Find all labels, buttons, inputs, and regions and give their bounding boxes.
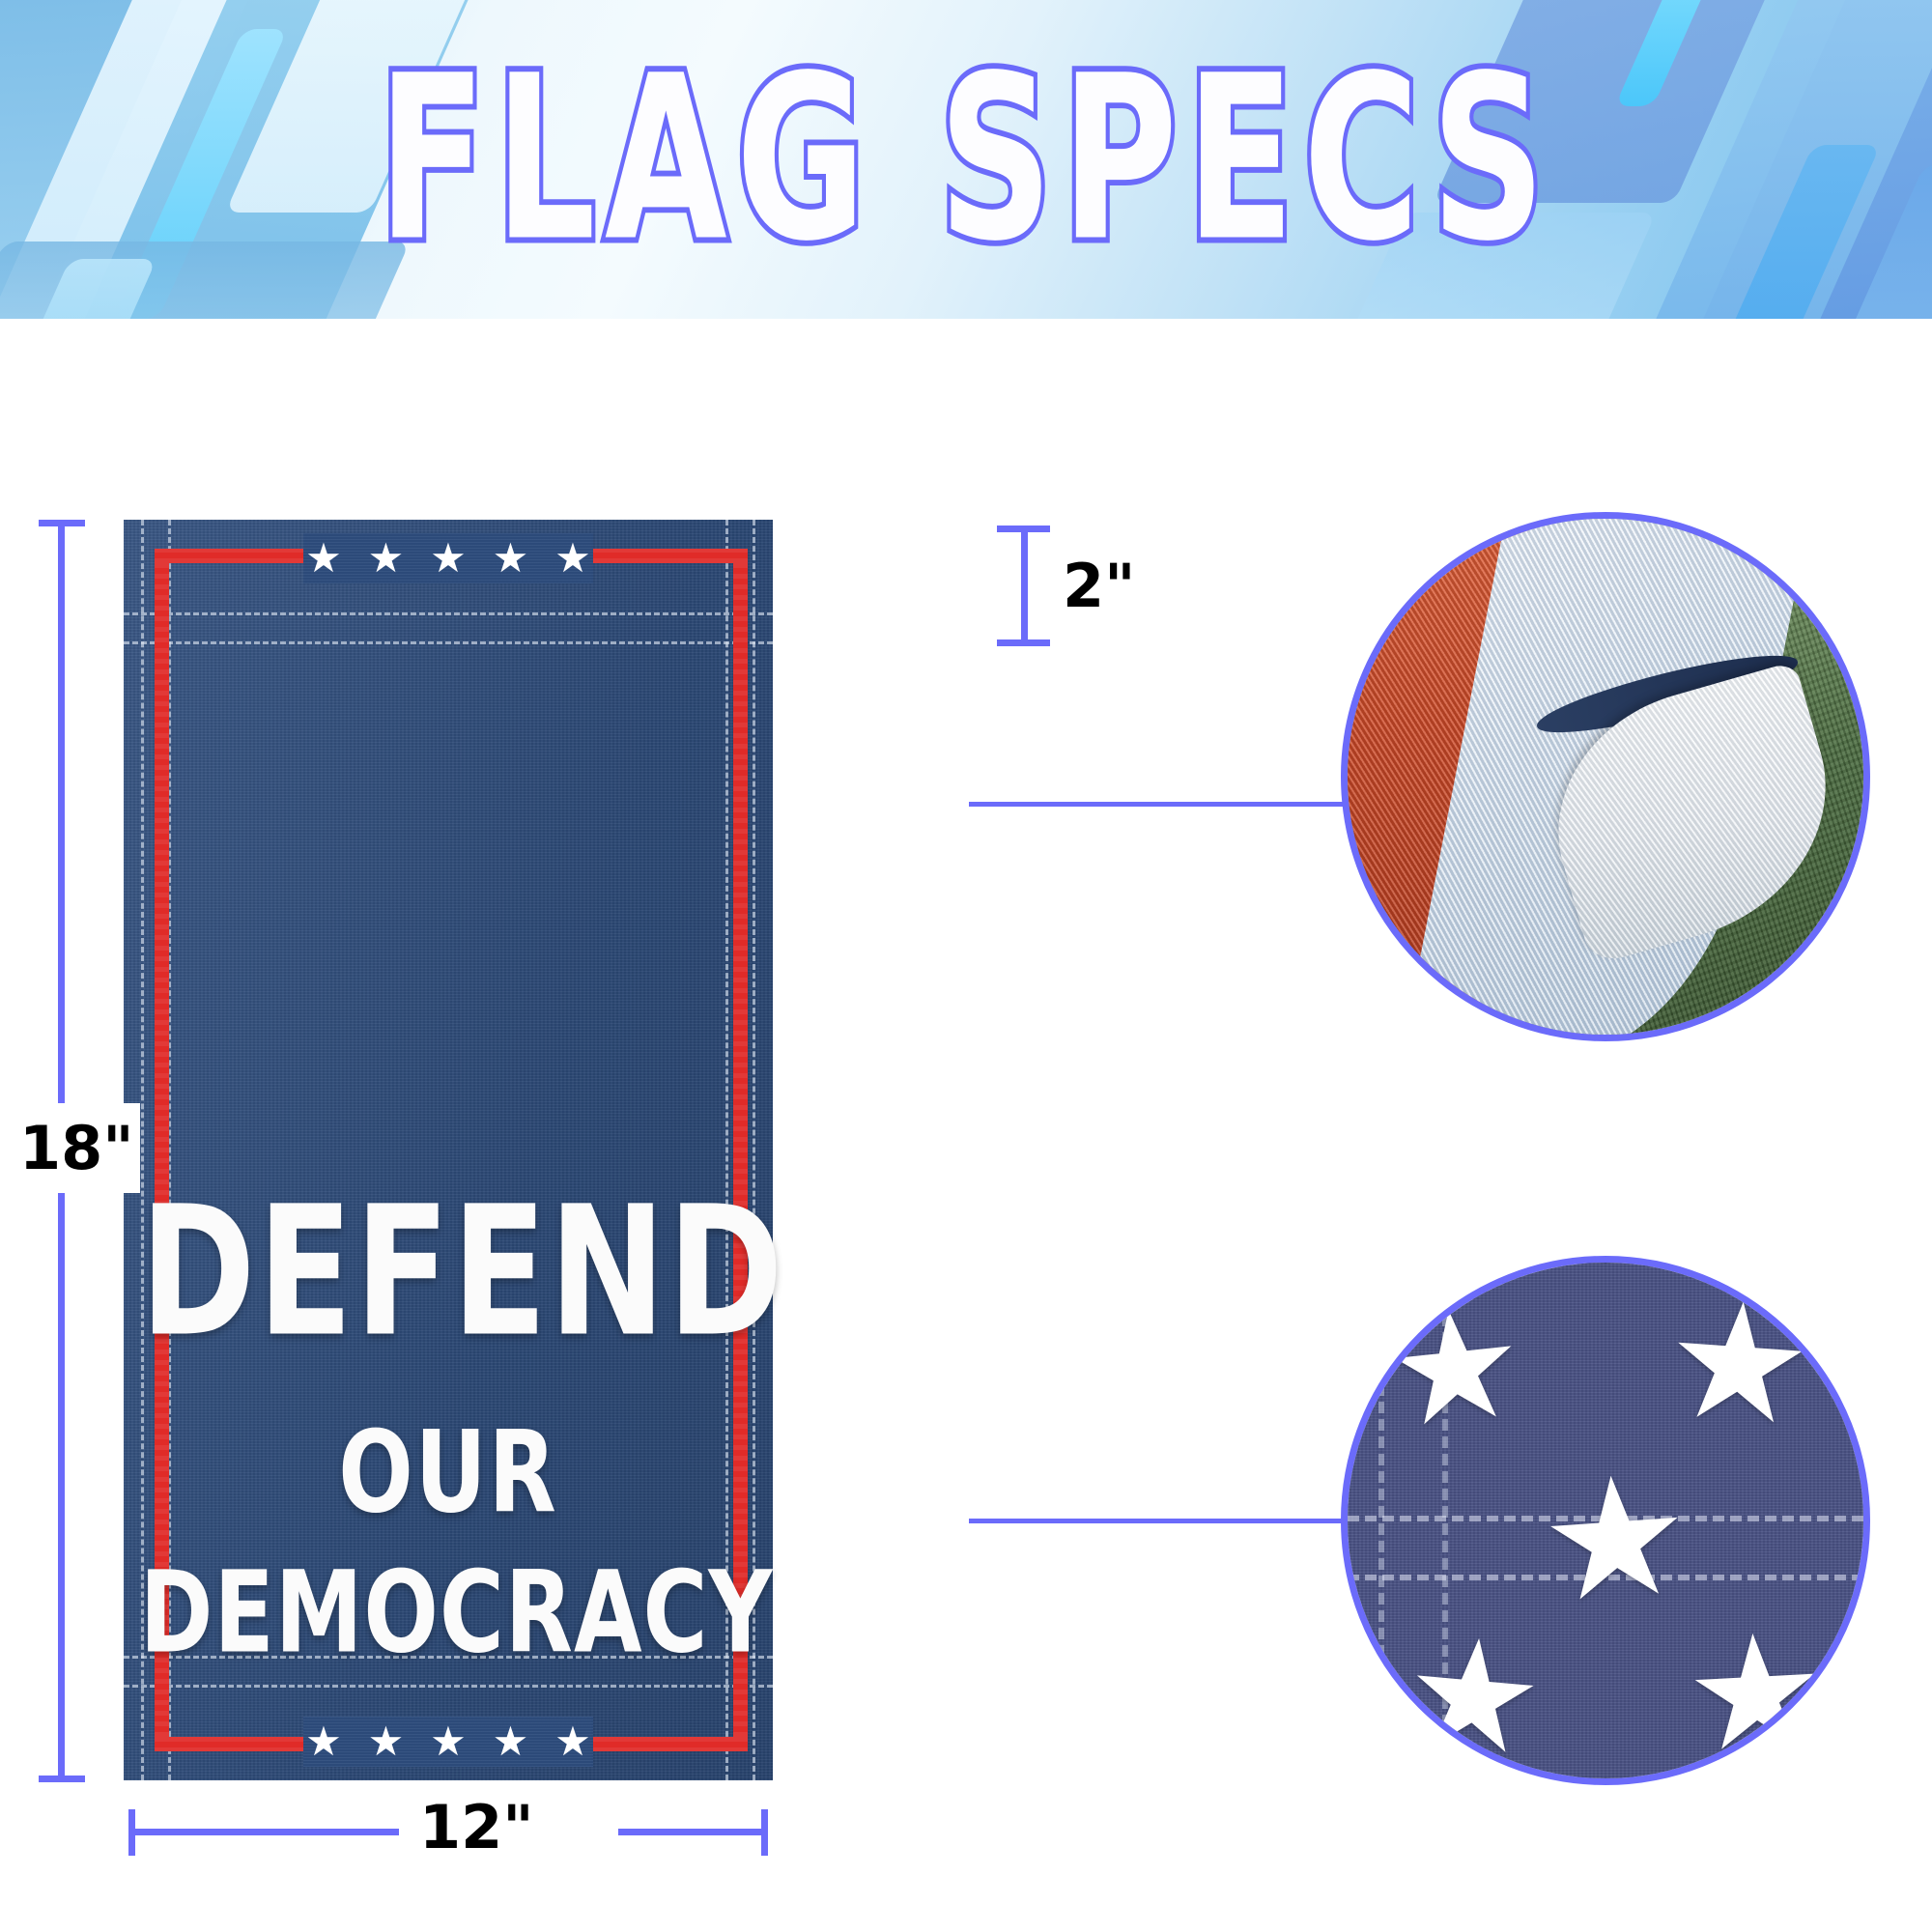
star-icon: ★ (553, 538, 593, 579)
flag-text-line-2: OUR (140, 1406, 756, 1539)
star-icon: ★ (428, 538, 469, 579)
callout-embroidered-stars-detail: ★ ★ ★ ★ ★ (1341, 1256, 1870, 1785)
border-dimension-cap-top (997, 526, 1050, 532)
border-dimension-line (1021, 529, 1028, 645)
flag-product-image: ★ ★ ★ ★ ★ ★ ★ ★ ★ ★ DEFEND OUR DEMOCRACY (124, 520, 773, 1780)
star-icon: ★ (1661, 1277, 1817, 1449)
star-icon: ★ (366, 1721, 407, 1762)
width-dimension-cap-left (128, 1809, 135, 1856)
page-title: FLAG SPECS (77, 0, 1855, 319)
star-icon: ★ (553, 1721, 593, 1762)
stars-scene: ★ ★ ★ ★ ★ (1348, 1263, 1863, 1778)
star-icon: ★ (491, 1721, 531, 1762)
height-dimension-cap-top (39, 520, 85, 526)
width-dimension-cap-right (761, 1809, 768, 1856)
connector-line-top (969, 802, 1346, 807)
star-icon: ★ (428, 1721, 469, 1762)
star-icon: ★ (366, 538, 407, 579)
height-dimension-label: 18" (14, 1103, 140, 1193)
width-dimension-line-right (618, 1829, 768, 1835)
flag-text-line-3: DEMOCRACY (140, 1547, 756, 1679)
star-icon: ★ (303, 538, 344, 579)
width-dimension-label: 12" (419, 1792, 534, 1862)
star-icon: ★ (1399, 1614, 1548, 1778)
fabric-scene (1348, 519, 1863, 1035)
star-icon: ★ (1682, 1611, 1831, 1775)
star-icon: ★ (1535, 1451, 1695, 1627)
star-icon: ★ (303, 1721, 344, 1762)
flag-text-line-1: DEFEND (140, 1168, 756, 1377)
star-icon: ★ (1378, 1285, 1530, 1451)
border-dimension-label: 2" (1063, 551, 1135, 621)
flag-stars-row-bottom: ★ ★ ★ ★ ★ (303, 1717, 593, 1767)
connector-line-bottom (969, 1519, 1346, 1523)
flag-stars-row-top: ★ ★ ★ ★ ★ (303, 533, 593, 583)
header-banner: FLAG SPECS (0, 0, 1932, 319)
border-dimension-cap-bottom (997, 639, 1050, 646)
width-dimension-line-left (128, 1829, 399, 1835)
height-dimension-cap-bottom (39, 1776, 85, 1782)
callout-fabric-edge-detail (1341, 512, 1870, 1041)
star-icon: ★ (491, 538, 531, 579)
